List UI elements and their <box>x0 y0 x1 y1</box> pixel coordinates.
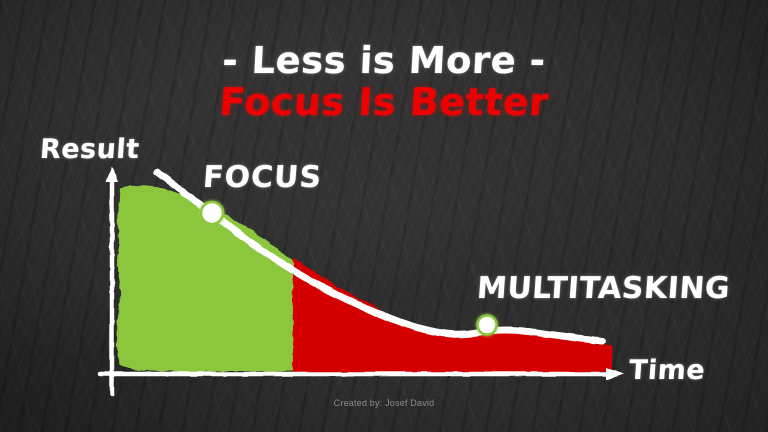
title-line-secondary: Focus Is Better <box>0 80 768 124</box>
series-label-multitasking: MULTITASKING <box>476 271 732 306</box>
series-label-focus: FOCUS <box>202 160 323 195</box>
title-block: - Less is More - Focus Is Better <box>0 40 768 124</box>
multitasking-data-marker <box>478 316 497 335</box>
chalkboard-slide: - Less is More - Focus Is Better <box>0 0 768 432</box>
y-axis-label: Result <box>39 134 141 165</box>
x-axis-arrowhead <box>606 368 624 380</box>
y-axis-arrowhead <box>106 166 118 182</box>
credit-text: Created by: Josef David <box>0 398 768 408</box>
title-line-primary: - Less is More - <box>0 40 768 82</box>
x-axis-label: Time <box>628 355 706 386</box>
focus-data-marker <box>201 202 223 224</box>
